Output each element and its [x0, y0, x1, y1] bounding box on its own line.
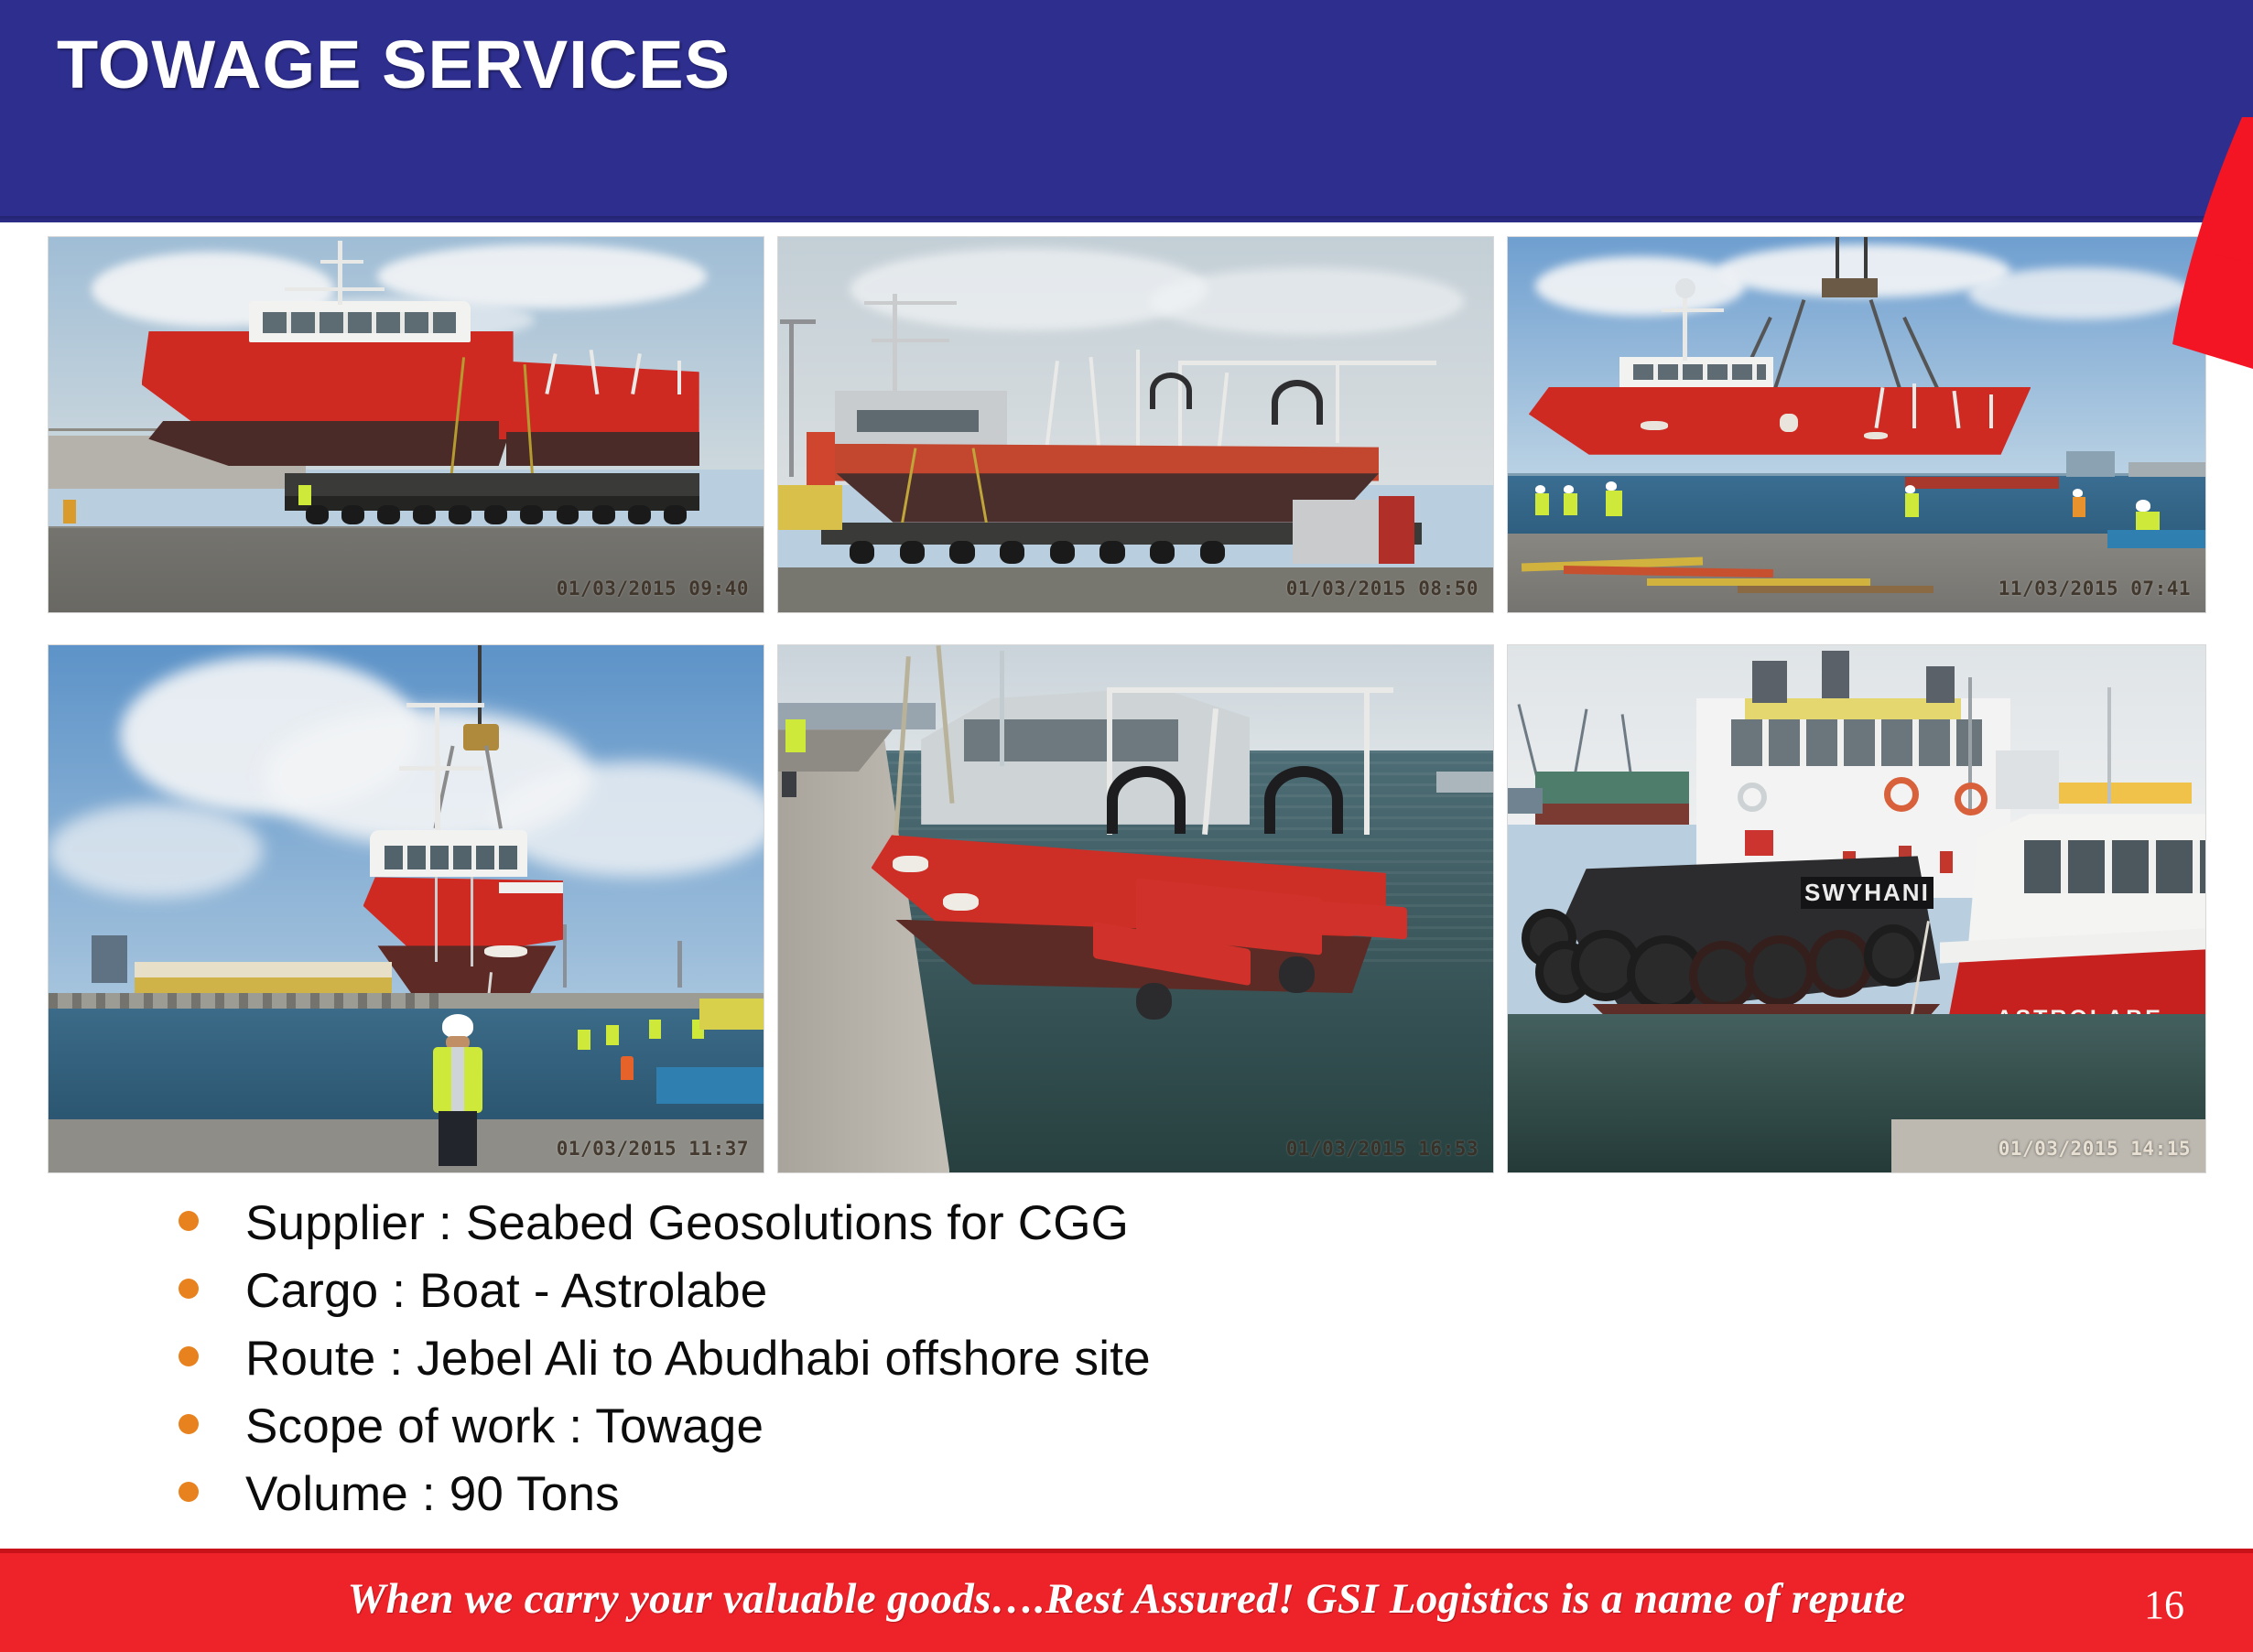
bullet-dot-icon: [179, 1482, 199, 1502]
list-item-label: Supplier : Seabed Geosolutions for CGG: [245, 1195, 1129, 1251]
list-item-label: Volume : 90 Tons: [245, 1466, 620, 1522]
photo-scene: [778, 237, 1493, 612]
tug-name-label: SWYHANI: [1801, 877, 1933, 909]
photo-boat-lifted-by-crane-over-water[interactable]: 11/03/2015 07:41: [1507, 236, 2206, 613]
footer-tagline: When we carry your valuable goods….Rest …: [0, 1574, 2253, 1624]
list-item: Cargo : Boat - Astrolabe: [179, 1263, 1918, 1331]
bullet-dot-icon: [179, 1211, 199, 1231]
bullet-dot-icon: [179, 1346, 199, 1366]
photo-timestamp: 01/03/2015 11:37: [557, 1138, 749, 1160]
details-bullet-list: Supplier : Seabed Geosolutions for CGG C…: [179, 1195, 1918, 1534]
photo-scene: [1508, 237, 2205, 612]
red-corner-swoosh-decoration: [2134, 117, 2253, 369]
list-item-label: Route : Jebel Ali to Abudhabi offshore s…: [245, 1331, 1151, 1387]
list-item-label: Scope of work : Towage: [245, 1398, 764, 1454]
photo-boat-moored-stern-deck-equipment[interactable]: 01/03/2015 16:53: [777, 644, 1494, 1173]
photo-boat-on-spmt-trailer-stern-quarter[interactable]: 01/03/2015 08:50: [777, 236, 1494, 613]
photo-timestamp: 01/03/2015 16:53: [1286, 1138, 1479, 1160]
list-item: Scope of work : Towage: [179, 1398, 1918, 1466]
photo-scene: [49, 237, 764, 612]
list-item-label: Cargo : Boat - Astrolabe: [245, 1263, 767, 1319]
photo-timestamp: 01/03/2015 14:15: [1998, 1138, 2191, 1160]
bullet-dot-icon: [179, 1414, 199, 1434]
photo-timestamp: 11/03/2015 07:41: [1998, 578, 2191, 599]
photo-timestamp: 01/03/2015 08:50: [1286, 578, 1479, 599]
photo-boat-on-spmt-trailer-side-view[interactable]: 01/03/2015 09:40: [48, 236, 764, 613]
photo-timestamp: 01/03/2015 09:40: [557, 578, 749, 599]
bullet-dot-icon: [179, 1279, 199, 1299]
photo-scene: [49, 645, 764, 1172]
header-band-shadow: [0, 216, 2253, 223]
footer-top-divider: [0, 1549, 2253, 1553]
photo-tug-alongside-astrolabe[interactable]: SWYHANI ASTROLABE: [1507, 644, 2206, 1173]
photo-scene: [778, 645, 1493, 1172]
footer-bar: When we carry your valuable goods….Rest …: [0, 1549, 2253, 1652]
list-item: Supplier : Seabed Geosolutions for CGG: [179, 1195, 1918, 1263]
photo-gallery: 01/03/2015 09:40: [48, 236, 2206, 1184]
list-item: Route : Jebel Ali to Abudhabi offshore s…: [179, 1331, 1918, 1398]
list-item: Volume : 90 Tons: [179, 1466, 1918, 1534]
photo-scene: SWYHANI ASTROLABE: [1508, 645, 2205, 1172]
photo-boat-suspended-with-supervisor[interactable]: 01/03/2015 11:37: [48, 644, 764, 1173]
page-number: 16: [2144, 1582, 2184, 1628]
page-title: TOWAGE SERVICES: [57, 26, 731, 103]
